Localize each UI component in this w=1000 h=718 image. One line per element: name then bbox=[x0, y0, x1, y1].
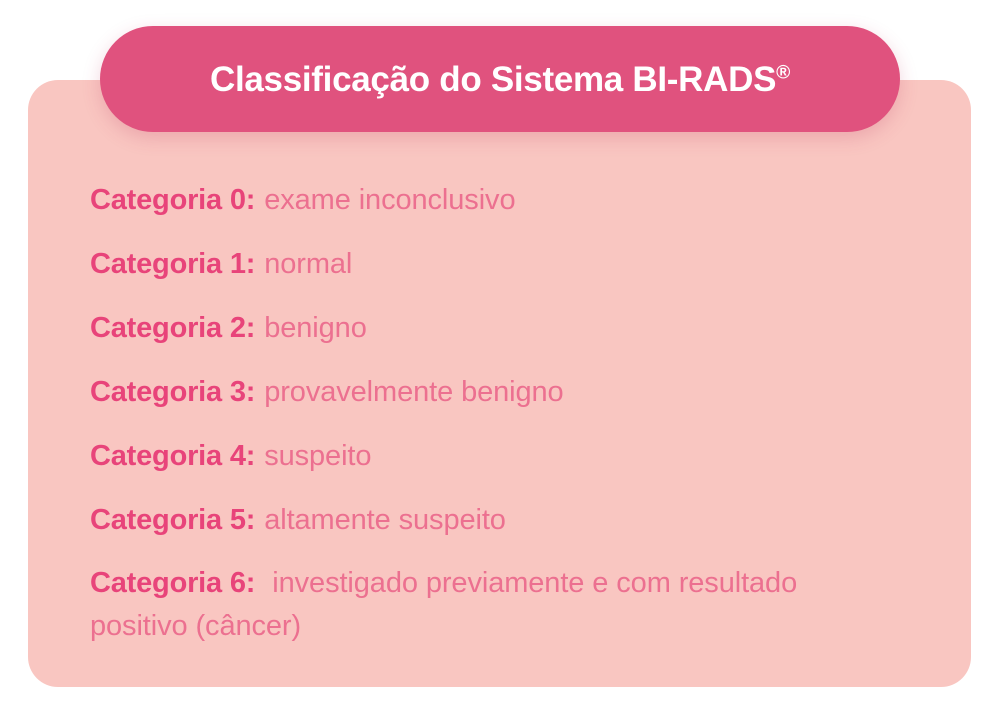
category-label: Categoria 4: bbox=[90, 434, 255, 479]
category-list: Categoria 0: exame inconclusivo Categori… bbox=[90, 178, 900, 648]
list-item: Categoria 3: provavelmente benigno bbox=[90, 370, 900, 434]
category-description: provavelmente benigno bbox=[264, 370, 563, 415]
birads-infographic: Classificação do Sistema BI-RADS® Catego… bbox=[0, 0, 1000, 718]
category-description: normal bbox=[264, 242, 352, 287]
registered-trademark-icon: ® bbox=[776, 62, 790, 83]
page-title-text: Classificação do Sistema BI-RADS bbox=[210, 60, 776, 99]
list-item: Categoria 2: benigno bbox=[90, 306, 900, 370]
list-item: Categoria 0: exame inconclusivo bbox=[90, 178, 900, 242]
title-pill: Classificação do Sistema BI-RADS® bbox=[100, 26, 900, 132]
category-label: Categoria 2: bbox=[90, 306, 255, 351]
category-label: Categoria 5: bbox=[90, 498, 255, 543]
list-item: Categoria 5: altamente suspeito bbox=[90, 498, 900, 562]
category-description: benigno bbox=[264, 306, 367, 351]
list-item: Categoria 4: suspeito bbox=[90, 434, 900, 498]
category-label: Categoria 3: bbox=[90, 370, 255, 415]
list-item: Categoria 1: normal bbox=[90, 242, 900, 306]
page-title: Classificação do Sistema BI-RADS® bbox=[210, 62, 790, 97]
category-label: Categoria 1: bbox=[90, 242, 255, 287]
category-label: Categoria 6: bbox=[90, 567, 255, 599]
category-description: exame inconclusivo bbox=[264, 178, 515, 223]
category-description: suspeito bbox=[264, 434, 371, 479]
list-item: Categoria 6: investigado previamente e c… bbox=[90, 562, 900, 648]
category-label: Categoria 0: bbox=[90, 178, 255, 223]
category-description: altamente suspeito bbox=[264, 498, 506, 543]
